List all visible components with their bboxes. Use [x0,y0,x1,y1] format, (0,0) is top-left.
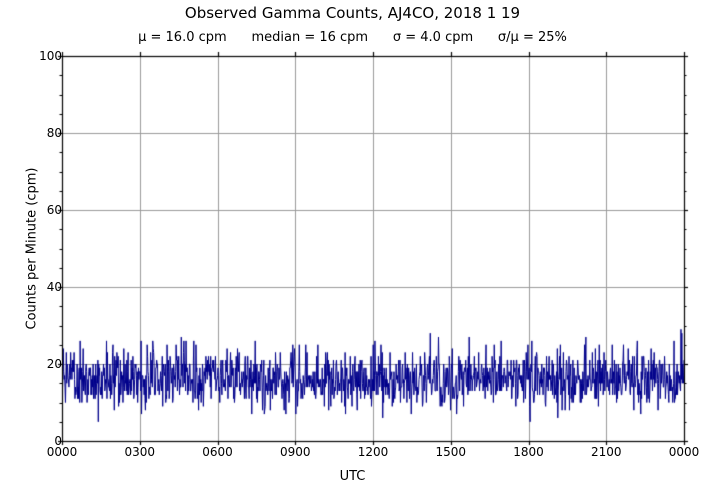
y-tick-label: 100 [2,50,62,62]
x-tick-label: 0000 [22,446,102,458]
y-axis-label: Counts per Minute (cpm) [26,129,39,369]
x-tick-label: 0900 [255,446,335,458]
x-tick-label: 1800 [489,446,569,458]
chart-subtitle-stats: μ = 16.0 cpm median = 16 cpm σ = 4.0 cpm… [0,31,705,44]
y-tick-label: 60 [2,204,62,216]
x-tick-label: 0300 [100,446,180,458]
x-axis-label: UTC [0,470,705,483]
chart-title: Observed Gamma Counts, AJ4CO, 2018 1 19 [0,6,705,21]
y-tick-label: 40 [2,281,62,293]
chart-figure: Observed Gamma Counts, AJ4CO, 2018 1 19 … [0,0,705,489]
x-tick-label: 0600 [178,446,258,458]
y-tick-label: 20 [2,358,62,370]
x-tick-label: 1200 [333,446,413,458]
y-tick-label: 80 [2,127,62,139]
x-tick-label: 1500 [411,446,491,458]
x-tick-label: 2100 [566,446,646,458]
x-tick-label: 0000 [644,446,705,458]
gamma-counts-plot-canvas [0,0,705,489]
